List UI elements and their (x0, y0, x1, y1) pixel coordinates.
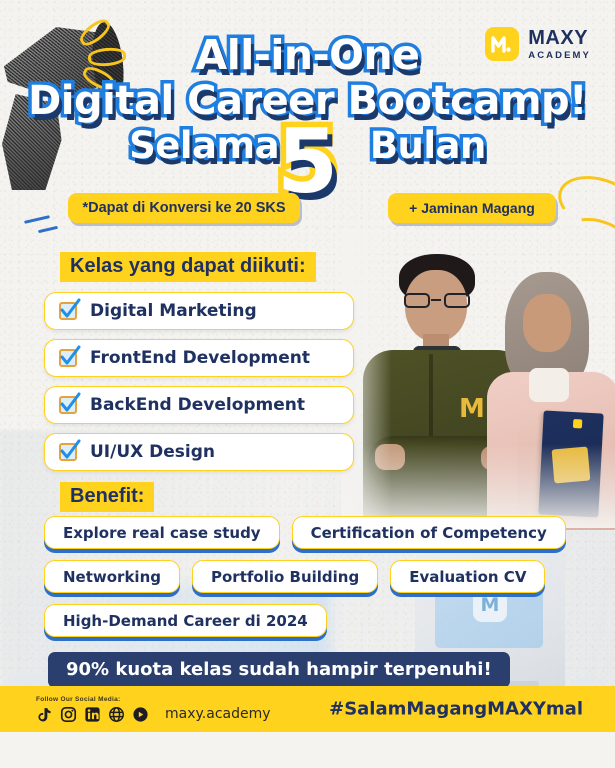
woman-inner-top (529, 368, 569, 402)
youtube-icon[interactable] (132, 706, 149, 723)
glasses-icon (404, 293, 470, 308)
checkbox-checked-icon[interactable] (59, 349, 77, 367)
social-handle[interactable]: maxy.academy (165, 706, 271, 722)
headline-bulan: Bulan (370, 124, 486, 167)
tiktok-icon[interactable] (36, 706, 53, 723)
linkedin-icon[interactable] (84, 706, 101, 723)
footer-bar: Follow Our Social Media: maxy.academy (0, 686, 615, 732)
woman-face (523, 294, 571, 352)
footer-bottom-strip (0, 732, 615, 768)
class-label: Digital Marketing (90, 301, 257, 321)
benefit-row: Networking Portfolio Building Evaluation… (44, 560, 574, 593)
footer-social-block: Follow Our Social Media: maxy.academy (36, 696, 271, 723)
checkbox-checked-icon[interactable] (59, 443, 77, 461)
poster-root: M MAXY ACADEMY All-in-One Digital Career… (0, 0, 615, 768)
jacket-m-logo-icon: M (459, 394, 485, 424)
campaign-hashtag: #SalamMagangMAXYmal (329, 699, 583, 720)
social-icon-row: maxy.academy (36, 706, 271, 723)
class-label: BackEnd Development (90, 395, 305, 415)
maxy-book (538, 411, 603, 518)
class-list: Digital Marketing FrontEnd Development B… (44, 292, 354, 480)
man-hand (375, 444, 405, 470)
badge-sks[interactable]: *Dapat di Konversi ke 20 SKS (68, 193, 300, 223)
student-woman (487, 272, 615, 528)
speed-lines-icon (24, 214, 68, 240)
class-label: UI/UX Design (90, 442, 215, 462)
benefit-row: High-Demand Career di 2024 (44, 604, 574, 637)
headline-line-1: All-in-One (0, 34, 615, 77)
classes-title: Kelas yang dapat diikuti: (60, 252, 316, 282)
benefit-pill[interactable]: Portfolio Building (192, 560, 378, 593)
class-item[interactable]: FrontEnd Development (44, 339, 354, 377)
badge-internship-guarantee[interactable]: + Jaminan Magang (388, 193, 556, 223)
benefit-pill[interactable]: Evaluation CV (390, 560, 545, 593)
benefit-pill[interactable]: Explore real case study (44, 516, 280, 549)
benefit-row: Explore real case study Certification of… (44, 516, 574, 549)
benefit-pill[interactable]: High-Demand Career di 2024 (44, 604, 327, 637)
benefit-title: Benefit: (60, 482, 154, 512)
globe-icon[interactable] (108, 706, 125, 723)
follow-label: Follow Our Social Media: (36, 696, 271, 703)
checkbox-checked-icon[interactable] (59, 396, 77, 414)
class-label: FrontEnd Development (90, 348, 310, 368)
class-item[interactable]: BackEnd Development (44, 386, 354, 424)
benefit-list: Explore real case study Certification of… (44, 516, 574, 648)
class-item[interactable]: Digital Marketing (44, 292, 354, 330)
benefit-pill[interactable]: Certification of Competency (292, 516, 566, 549)
benefit-pill[interactable]: Networking (44, 560, 180, 593)
checkbox-checked-icon[interactable] (59, 302, 77, 320)
headline-selama: Selama (129, 124, 279, 167)
class-item[interactable]: UI/UX Design (44, 433, 354, 471)
quota-banner: 90% kuota kelas sudah hampir terpenuhi! (48, 652, 510, 688)
instagram-icon[interactable] (60, 706, 77, 723)
